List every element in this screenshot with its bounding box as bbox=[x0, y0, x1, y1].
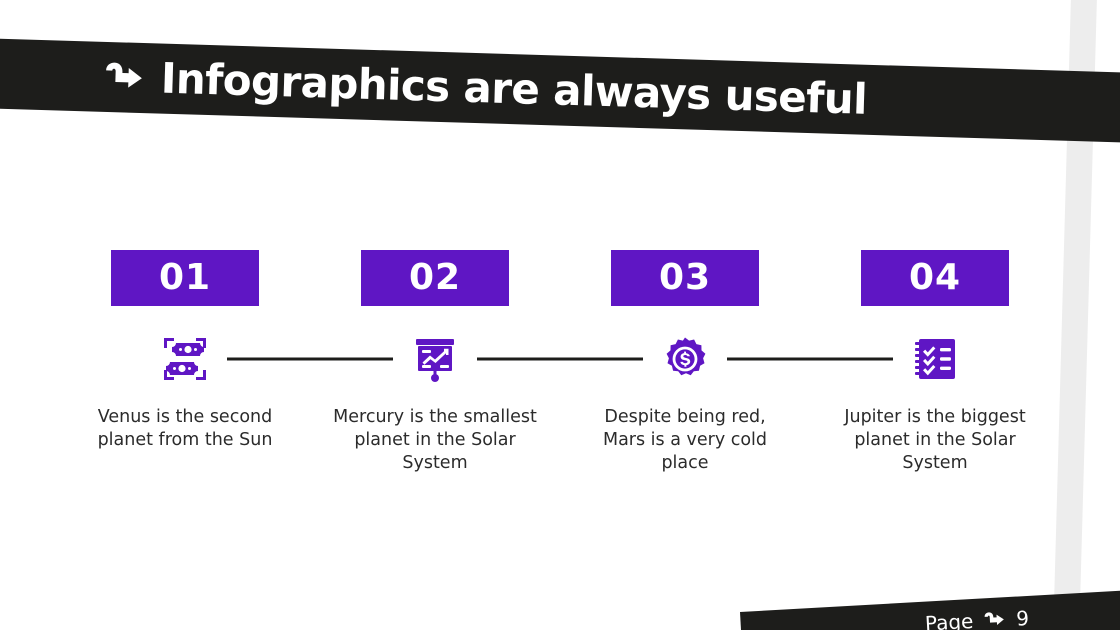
checklist-notepad-icon bbox=[911, 335, 959, 383]
page-title: Infographics are always useful bbox=[160, 58, 867, 121]
step-column-2: 02 bbox=[310, 250, 560, 475]
footer-content: Page 9 bbox=[924, 608, 1029, 630]
step-icon-row-4 bbox=[810, 328, 1060, 390]
arrow-right-icon bbox=[982, 610, 1008, 629]
page-label: Page bbox=[924, 611, 973, 630]
slide-canvas: Infographics are always useful 01 bbox=[0, 0, 1120, 630]
arrow-right-icon bbox=[102, 60, 145, 95]
step-column-4: 04 bbox=[810, 250, 1060, 475]
step-caption-2: Mercury is the smallest planet in the So… bbox=[333, 406, 538, 475]
presentation-chart-board-icon bbox=[411, 335, 459, 383]
step-number-box-3[interactable]: 03 bbox=[611, 250, 759, 306]
infographic-row: 01 bbox=[0, 250, 1120, 475]
title-banner-content: Infographics are always useful bbox=[102, 56, 867, 121]
step-caption-4: Jupiter is the biggest planet in the Sol… bbox=[833, 406, 1038, 475]
step-caption-3: Despite being red, Mars is a very cold p… bbox=[583, 406, 788, 475]
step-icon-row-1 bbox=[60, 328, 310, 390]
page-number: 9 bbox=[1016, 608, 1030, 629]
step-column-3: 03 Despite being red, Mars is a very col… bbox=[560, 250, 810, 475]
step-icon-row-3 bbox=[560, 328, 810, 390]
step-number-label-2: 02 bbox=[409, 260, 461, 296]
banknotes-money-icon bbox=[161, 335, 209, 383]
step-column-1: 01 bbox=[60, 250, 310, 475]
step-icon-row-2 bbox=[310, 328, 560, 390]
step-number-label-4: 04 bbox=[909, 260, 961, 296]
step-caption-1: Venus is the second planet from the Sun bbox=[83, 406, 288, 452]
step-number-box-4[interactable]: 04 bbox=[861, 250, 1009, 306]
title-banner: Infographics are always useful bbox=[0, 38, 1120, 143]
gear-dollar-icon bbox=[661, 335, 709, 383]
step-number-label-1: 01 bbox=[159, 260, 211, 296]
step-number-label-3: 03 bbox=[659, 260, 711, 296]
step-number-box-1[interactable]: 01 bbox=[111, 250, 259, 306]
step-number-box-2[interactable]: 02 bbox=[361, 250, 509, 306]
